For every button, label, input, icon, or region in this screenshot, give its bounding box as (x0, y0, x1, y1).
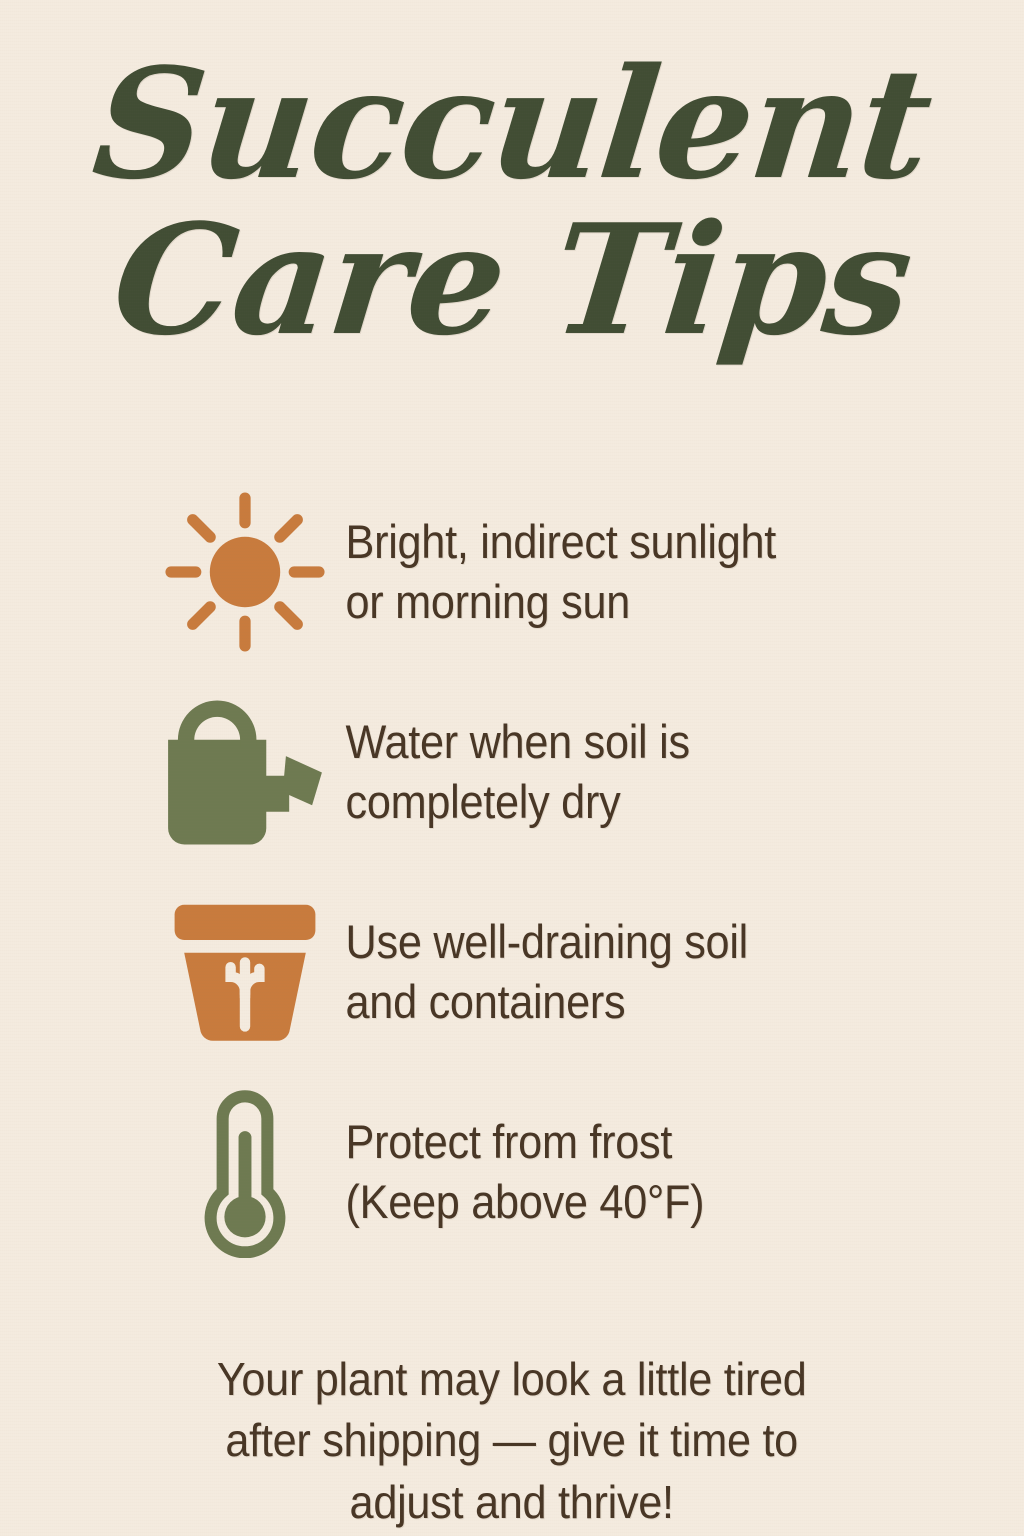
footer-note: Your plant may look a little tired after… (0, 1288, 1024, 1533)
page-title-line-1: Succulent (0, 52, 1024, 196)
tip-row-watering: Water when soil is completely dry (0, 672, 1024, 872)
tip-row-soil: Use well-draining soil and containers (0, 872, 1024, 1072)
tip-row-sunlight: Bright, indirect sunlight or morning sun (0, 472, 1024, 672)
tip-row-frost: Protect from frost (Keep above 40°F) (0, 1072, 1024, 1272)
page-title: Succulent Care Tips (0, 52, 1024, 353)
watering-can-icon (150, 690, 340, 855)
plant-pot-icon (150, 892, 340, 1052)
tip-text-sunlight: Bright, indirect sunlight or morning sun (340, 512, 969, 632)
succulent-care-tips-poster: Succulent Care Tips (0, 0, 1024, 1536)
page-title-line-2: Care Tips (0, 208, 1024, 352)
tip-text-soil: Use well-draining soil and containers (340, 912, 969, 1032)
tip-text-watering: Water when soil is completely dry (340, 712, 969, 832)
tip-text-frost: Protect from frost (Keep above 40°F) (340, 1112, 969, 1232)
care-tips-list: Bright, indirect sunlight or morning sun (0, 472, 1024, 1272)
thermometer-icon (150, 1086, 340, 1258)
footer-note-text: Your plant may look a little tired after… (217, 1349, 807, 1533)
sun-icon (150, 484, 340, 660)
